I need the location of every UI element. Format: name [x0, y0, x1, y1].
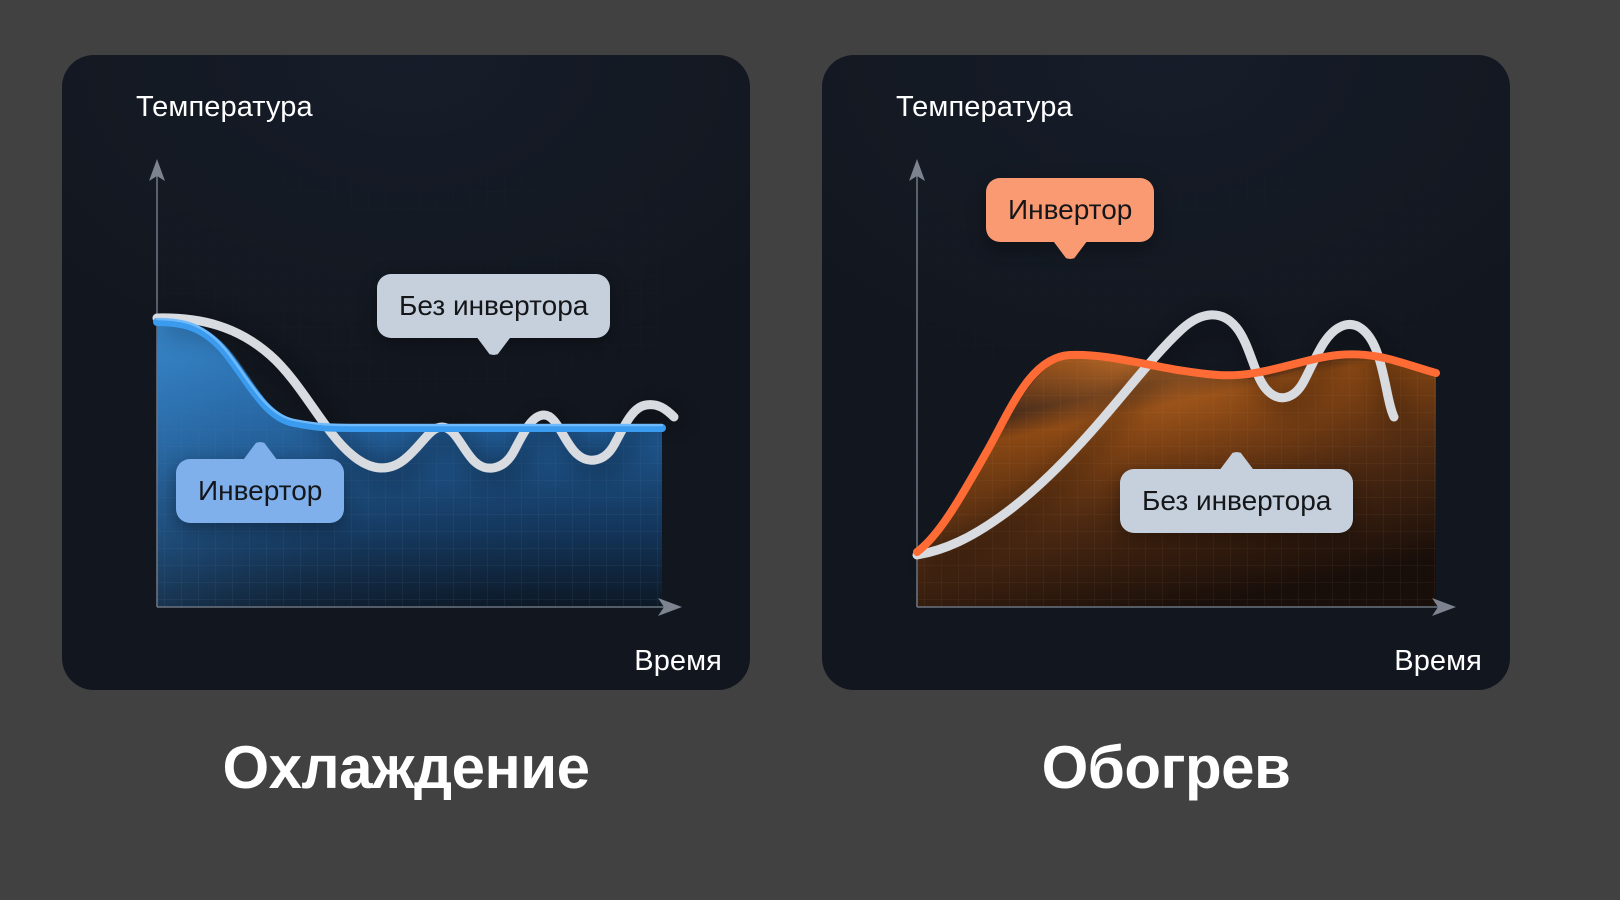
- card-heating: Температура Время Инвертор Без инвертора: [822, 55, 1510, 690]
- caption-heating: Обогрев: [822, 718, 1510, 818]
- x-axis-label-heating: Время: [1394, 645, 1482, 678]
- badge-cooling-inverter[interactable]: Инвертор: [176, 459, 344, 523]
- x-axis-label-cooling: Время: [634, 645, 722, 678]
- caption-row: Охлаждение Обогрев: [0, 718, 1620, 828]
- infographic-root: Температура Время Инвертор Без инвертора: [0, 0, 1620, 900]
- badge-label: Без инвертора: [399, 292, 588, 320]
- chart-cooling: [62, 55, 750, 690]
- caption-cooling: Охлаждение: [62, 718, 750, 818]
- card-cooling: Температура Время Инвертор Без инвертора: [62, 55, 750, 690]
- badge-heating-no-inverter[interactable]: Без инвертора: [1120, 469, 1353, 533]
- y-axis-label-cooling: Температура: [136, 91, 313, 124]
- badge-label: Инвертор: [198, 477, 322, 505]
- panel-heating: Температура Время Инвертор Без инвертора: [822, 55, 1510, 690]
- y-axis-label-heating: Температура: [896, 91, 1073, 124]
- badge-cooling-no-inverter[interactable]: Без инвертора: [377, 274, 610, 338]
- badge-heating-inverter[interactable]: Инвертор: [986, 178, 1154, 242]
- plot-grid: [157, 175, 662, 607]
- badge-label: Инвертор: [1008, 196, 1132, 224]
- panel-cooling: Температура Время Инвертор Без инвертора: [62, 55, 750, 690]
- chart-heating: [822, 55, 1510, 690]
- badge-label: Без инвертора: [1142, 487, 1331, 515]
